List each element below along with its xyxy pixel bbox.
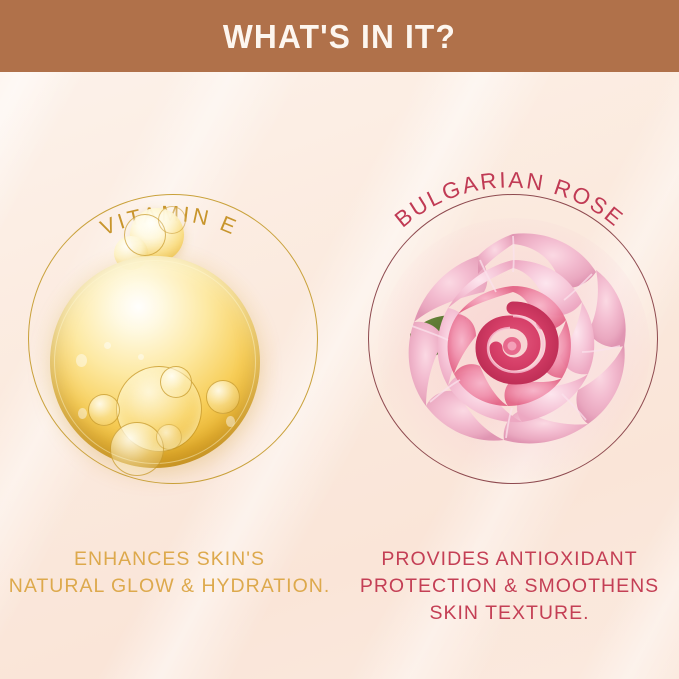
oil-speck-a	[76, 354, 87, 367]
bulgarian-rose-illustration	[368, 194, 658, 484]
ingredient-panel-vitamin-e: VITAMIN E	[0, 72, 339, 679]
bulgarian-rose-caption: PROVIDES ANTIOXIDANT PROTECTION & SMOOTH…	[340, 546, 679, 627]
infographic-page: WHAT'S IN IT? VITAMIN E	[0, 0, 679, 679]
oil-top-bubble-outline-2	[158, 206, 186, 234]
vitamin-e-oil-illustration	[28, 194, 318, 484]
oil-bubble-a	[88, 394, 120, 426]
vitamin-e-caption: ENHANCES SKIN'S NATURAL GLOW & HYDRATION…	[0, 546, 339, 600]
vitamin-e-caption-line-1: ENHANCES SKIN'S	[0, 546, 339, 573]
bulgarian-rose-artwork-stage	[368, 194, 658, 484]
bulgarian-rose-caption-line-1: PROVIDES ANTIOXIDANT	[340, 546, 679, 573]
bulgarian-rose-caption-line-3: SKIN TEXTURE.	[340, 600, 679, 627]
ingredient-panel-bulgarian-rose: BULGARIAN ROSE	[340, 72, 679, 679]
vitamin-e-artwork-stage	[28, 194, 318, 484]
oil-bubble-e	[156, 424, 182, 450]
oil-speck-e	[138, 354, 144, 360]
page-title: WHAT'S IN IT?	[223, 20, 456, 53]
oil-speck-b	[104, 342, 111, 349]
oil-bubble-b	[160, 366, 192, 398]
oil-speck-d	[226, 416, 235, 427]
oil-bubble-d	[110, 422, 164, 476]
oil-bubble-c	[206, 380, 240, 414]
bulgarian-rose-caption-line-2: PROTECTION & SMOOTHENS	[340, 573, 679, 600]
rose-flower-icon	[382, 212, 644, 474]
header-banner: WHAT'S IN IT?	[0, 0, 679, 72]
vitamin-e-caption-line-2: NATURAL GLOW & HYDRATION.	[0, 573, 339, 600]
oil-speck-c	[78, 408, 87, 419]
